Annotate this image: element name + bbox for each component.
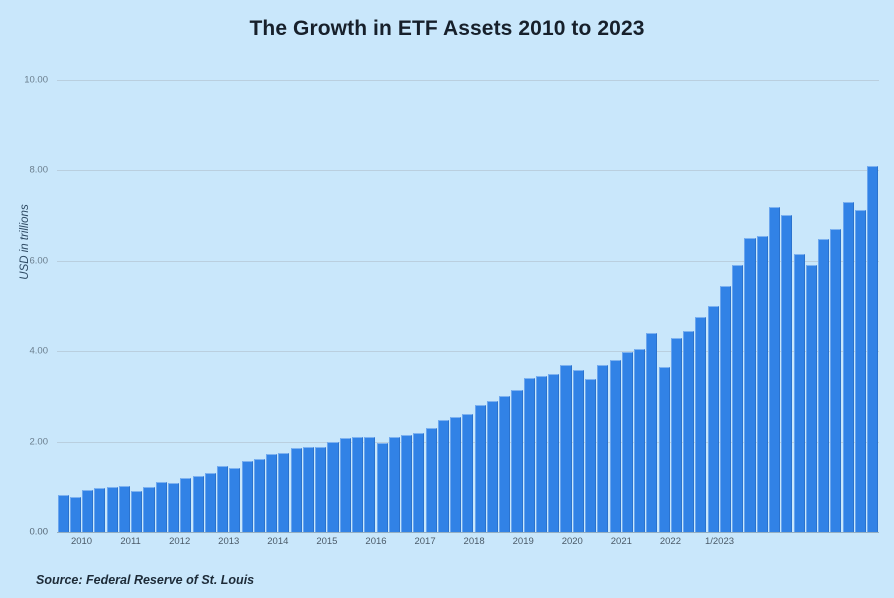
bar	[352, 437, 363, 532]
x-axis-tick-label: 2012	[169, 536, 190, 547]
bar	[622, 352, 633, 532]
plot-area: 0.002.004.006.008.0010.00	[57, 80, 879, 532]
bar	[744, 238, 755, 532]
bar	[781, 215, 792, 532]
bar	[475, 405, 486, 532]
bar	[205, 473, 216, 532]
bar	[58, 495, 69, 532]
bar	[720, 286, 731, 532]
x-axis: 2010201120122013201420152016201720182019…	[57, 534, 879, 554]
bar	[303, 447, 314, 532]
bar	[401, 435, 412, 532]
bar	[413, 433, 424, 532]
bar	[867, 166, 878, 532]
bar	[364, 437, 375, 532]
x-axis-tick-label: 2013	[218, 536, 239, 547]
x-axis-tick-label: 2018	[464, 536, 485, 547]
bar	[389, 437, 400, 532]
bar	[450, 417, 461, 532]
y-axis-tick-label: 0.00	[30, 527, 49, 538]
bar	[107, 487, 118, 532]
bar	[524, 378, 535, 532]
bar	[278, 453, 289, 532]
bar	[659, 367, 670, 532]
bar	[536, 376, 547, 532]
x-axis-tick-label: 2017	[414, 536, 435, 547]
bar	[340, 438, 351, 532]
bar	[193, 476, 204, 533]
bar	[634, 349, 645, 532]
bar	[695, 317, 706, 532]
x-axis-tick-label: 2022	[660, 536, 681, 547]
bar	[217, 466, 228, 532]
bar	[327, 442, 338, 532]
bar	[732, 265, 743, 532]
bar	[573, 370, 584, 532]
bar	[438, 420, 449, 532]
x-axis-tick-label: 2019	[513, 536, 534, 547]
bar	[180, 478, 191, 532]
gridline: 0.00	[57, 532, 879, 533]
bar	[487, 401, 498, 532]
bar	[291, 448, 302, 532]
x-axis-tick-label: 2011	[120, 536, 140, 547]
y-axis-tick-label: 8.00	[30, 165, 49, 176]
bar	[683, 331, 694, 532]
bar	[315, 447, 326, 532]
bar	[646, 333, 657, 532]
x-axis-tick-label: 2010	[71, 536, 92, 547]
bar	[769, 207, 780, 532]
y-axis-tick-label: 2.00	[30, 436, 49, 447]
bar	[757, 236, 768, 532]
bar	[499, 396, 510, 532]
bar	[266, 454, 277, 532]
bar	[806, 265, 817, 532]
x-axis-tick-label: 2015	[316, 536, 337, 547]
bar	[156, 482, 167, 532]
bar	[70, 497, 81, 532]
bar	[143, 487, 154, 532]
y-axis-tick-label: 10.00	[24, 75, 48, 86]
bar	[242, 461, 253, 532]
x-axis-tick-label: 2014	[267, 536, 288, 547]
x-axis-tick-label: 2016	[365, 536, 386, 547]
bar	[671, 338, 682, 532]
y-axis-tick-label: 4.00	[30, 346, 49, 357]
bar	[708, 306, 719, 532]
bar	[855, 210, 866, 532]
bar	[843, 202, 854, 532]
bar	[119, 486, 130, 532]
bar	[426, 428, 437, 532]
bar	[377, 443, 388, 532]
source-note: Source: Federal Reserve of St. Louis	[36, 573, 254, 587]
bar	[229, 468, 240, 532]
y-axis-label: USD in trillions	[19, 172, 31, 312]
bar	[254, 459, 265, 532]
bar	[818, 239, 829, 532]
bar	[597, 365, 608, 532]
bar	[830, 229, 841, 532]
bar	[131, 491, 142, 532]
bar	[94, 488, 105, 532]
bar	[794, 254, 805, 532]
bar-series	[57, 80, 879, 532]
bar	[168, 483, 179, 532]
bar	[610, 360, 621, 532]
bar	[560, 365, 571, 532]
bar	[82, 490, 93, 532]
chart-root: The Growth in ETF Assets 2010 to 2023 US…	[0, 0, 894, 598]
chart-title: The Growth in ETF Assets 2010 to 2023	[0, 17, 894, 41]
bar	[511, 390, 522, 532]
bar	[462, 414, 473, 532]
x-axis-tick-label: 2020	[562, 536, 583, 547]
bar	[548, 374, 559, 532]
y-axis-tick-label: 6.00	[30, 255, 49, 266]
x-axis-tick-label: 1/2023	[705, 536, 734, 547]
bar	[585, 379, 596, 532]
x-axis-tick-label: 2021	[611, 536, 632, 547]
